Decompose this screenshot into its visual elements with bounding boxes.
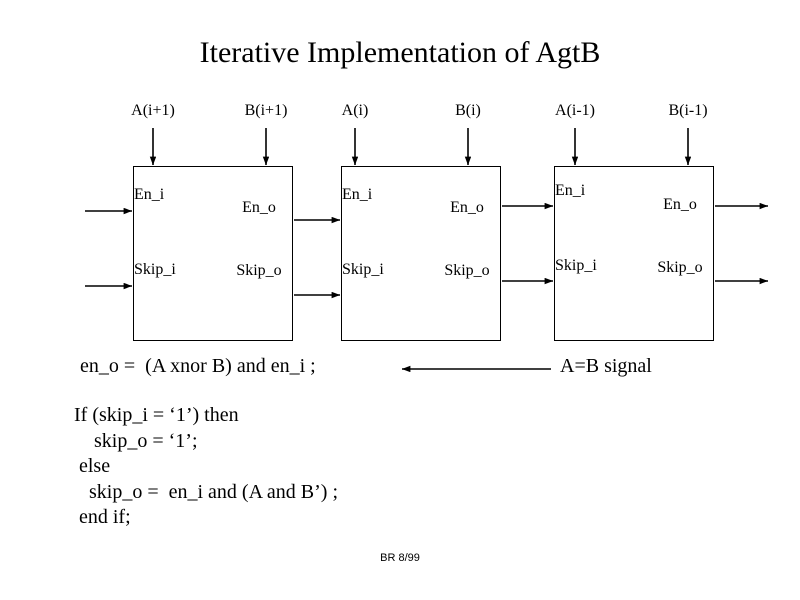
cell-1-port-skip-out: Skip_o — [236, 262, 281, 280]
cell-1-port-skip-in: Skip_i — [134, 261, 176, 279]
equation-en-o: en_o = (A xnor B) and en_i ; — [80, 355, 316, 378]
annotation-a-equals-b-signal: A=B signal — [560, 355, 652, 378]
top-signal-label-b-i: B(i) — [455, 102, 481, 120]
top-signal-label-a-i-minus-1: A(i-1) — [555, 102, 595, 120]
cell-2-port-skip-out: Skip_o — [444, 262, 489, 280]
top-signal-label-b-i-minus-1: B(i-1) — [668, 102, 707, 120]
cell-2-port-en-in: En_i — [342, 186, 372, 204]
page-title: Iterative Implementation of AgtB — [0, 36, 800, 70]
cell-2-port-skip-in: Skip_i — [342, 261, 384, 279]
top-signal-label-a-i-plus-1: A(i+1) — [131, 102, 175, 120]
cell-1-port-en-out: En_o — [242, 199, 276, 217]
cell-3-port-skip-out: Skip_o — [657, 259, 702, 277]
top-signal-label-a-i: A(i) — [342, 102, 369, 120]
skip-logic-code-block: If (skip_i = ‘1’) then skip_o = ‘1’; els… — [74, 403, 338, 531]
cell-1-port-en-in: En_i — [134, 186, 164, 204]
cell-3-port-en-out: En_o — [663, 196, 697, 214]
cell-3-port-skip-in: Skip_i — [555, 257, 597, 275]
cell-2-port-en-out: En_o — [450, 199, 484, 217]
slide-canvas: Iterative Implementation of AgtB A(i+1) … — [0, 0, 800, 600]
cell-3-port-en-in: En_i — [555, 182, 585, 200]
footer-credit: BR 8/99 — [0, 552, 800, 565]
top-signal-label-b-i-plus-1: B(i+1) — [245, 102, 288, 120]
